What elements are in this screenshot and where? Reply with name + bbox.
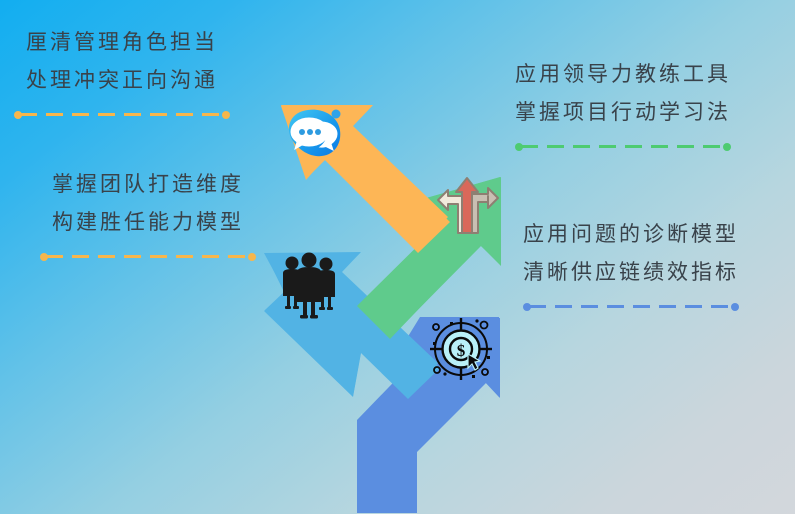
text-block-top-right: 应用领导力教练工具 掌握项目行动学习法: [515, 56, 731, 153]
text-line: 厘清管理角色担当: [14, 24, 230, 62]
text-line: 构建胜任能力模型: [40, 204, 256, 242]
text-line: 清晰供应链绩效指标: [523, 254, 739, 292]
divider-dashes: [46, 255, 250, 258]
svg-text:$: $: [457, 341, 466, 360]
target-dollar-icon: $: [430, 318, 492, 380]
text-block-mid-right: 应用问题的诊断模型 清晰供应链绩效指标: [523, 216, 739, 313]
divider-dashes: [20, 113, 224, 116]
text-block-top-left: 厘清管理角色担当 处理冲突正向沟通: [14, 24, 230, 121]
divider-dashes: [529, 305, 733, 308]
divider-blue: [523, 301, 739, 313]
divider-cap-right: [248, 253, 256, 261]
divider-cap-right: [731, 303, 739, 311]
slide-canvas: $ 厘清管理角色担当 处理冲突正向沟通 应用领导力教练工具 掌握项目行动学习法: [0, 0, 795, 514]
text-line: 应用领导力教练工具: [515, 56, 731, 94]
text-block-mid-left: 掌握团队打造维度 构建胜任能力模型: [40, 166, 256, 263]
divider-cap-right: [723, 143, 731, 151]
divider-green: [515, 141, 731, 153]
divider-orange: [40, 251, 256, 263]
divider-cap-right: [222, 111, 230, 119]
text-line: 掌握项目行动学习法: [515, 94, 731, 132]
divider-dashes: [521, 145, 725, 148]
text-line: 掌握团队打造维度: [40, 166, 256, 204]
text-line: 处理冲突正向沟通: [14, 62, 230, 100]
text-line: 应用问题的诊断模型: [523, 216, 739, 254]
divider-orange: [14, 109, 230, 121]
